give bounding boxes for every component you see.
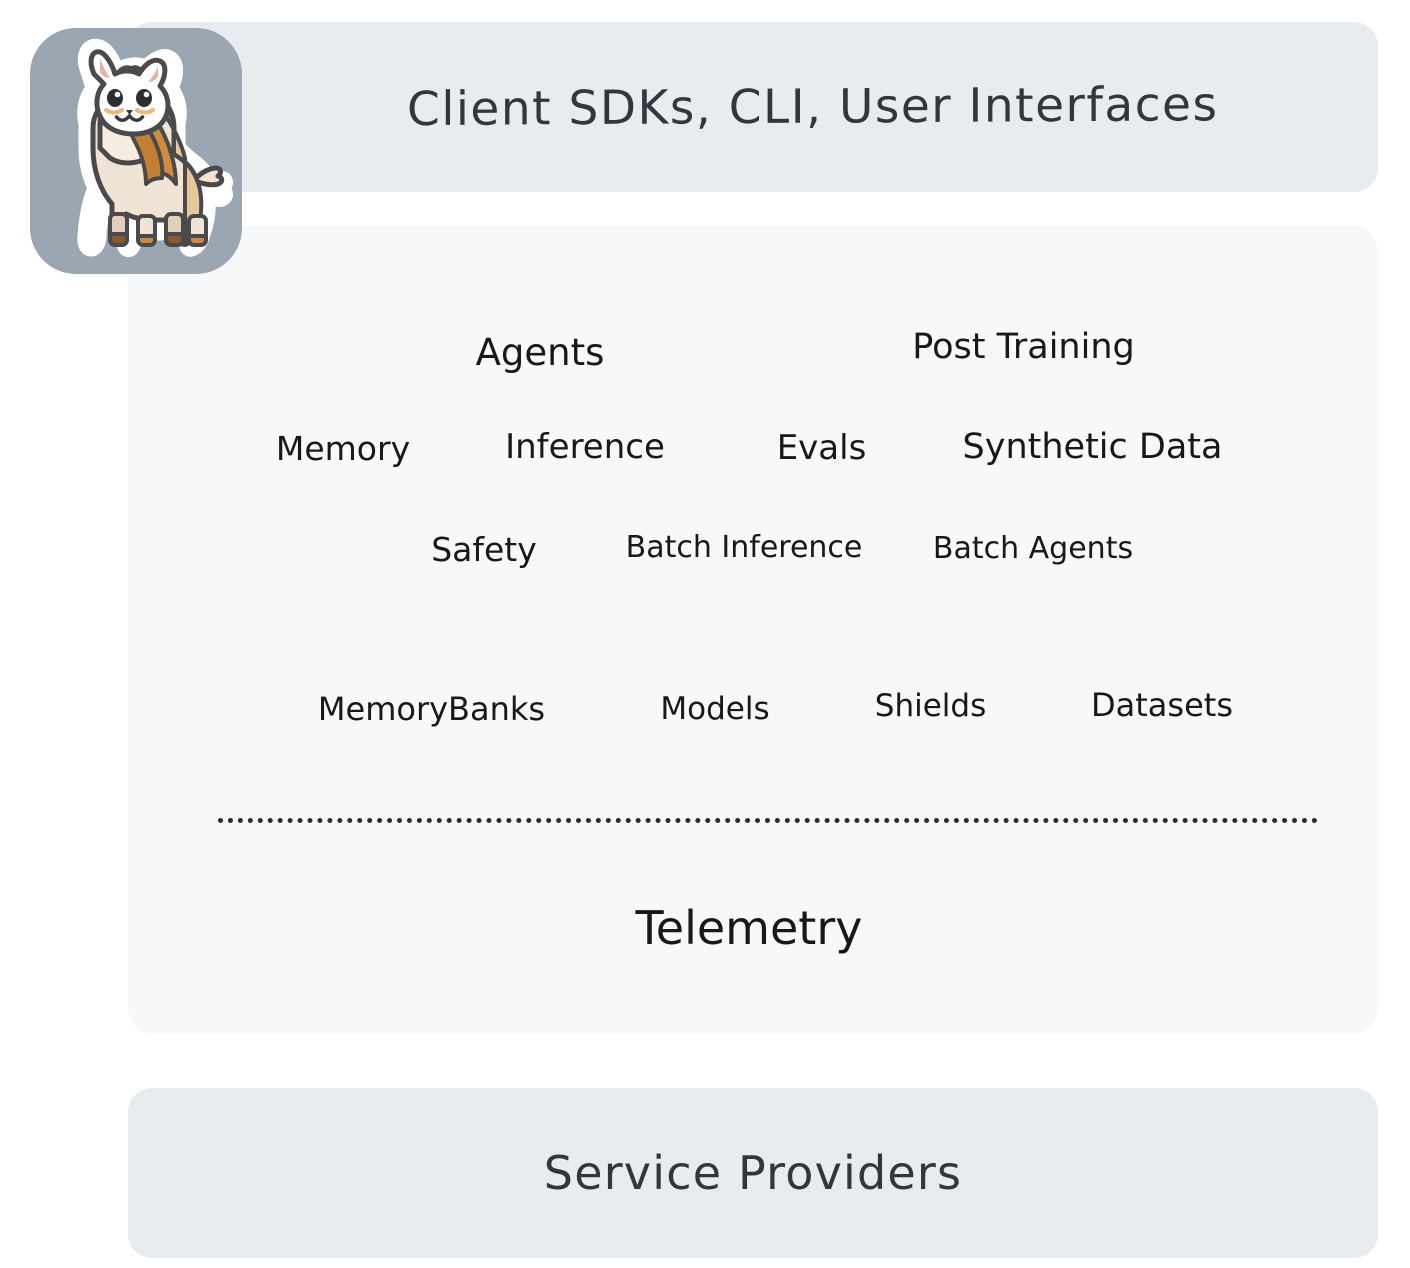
service-providers-bar: Service Providers xyxy=(128,1088,1378,1258)
api-box-agents-label: Agents xyxy=(476,334,605,371)
llama-logo-icon xyxy=(30,28,242,274)
architecture-diagram: Client SDKs, CLI, User Interfaces xyxy=(0,0,1410,1268)
api-box-inference-label: Inference xyxy=(505,430,665,464)
llama-logo-badge xyxy=(30,28,242,274)
api-box-batch-agents-label: Batch Agents xyxy=(933,534,1133,564)
client-layer-title: Client SDKs, CLI, User Interfaces xyxy=(287,77,1218,138)
resource-box-memorybanks-label: MemoryBanks xyxy=(318,693,545,725)
api-box-synthetic-data-label: Synthetic Data xyxy=(963,430,1223,465)
service-providers-title: Service Providers xyxy=(544,1146,962,1200)
resource-box-datasets-label: Datasets xyxy=(1091,689,1233,721)
api-box-memory-label: Memory xyxy=(276,432,410,465)
api-box-evals-label: Evals xyxy=(777,431,867,465)
api-box-post-training-label: Post Training xyxy=(912,330,1134,365)
api-box-safety-label: Safety xyxy=(431,533,537,566)
resource-box-models-label: Models xyxy=(660,694,769,725)
telemetry-box-label: Telemetry xyxy=(636,905,863,951)
api-box-batch-inference-label: Batch Inference xyxy=(626,533,863,563)
section-divider xyxy=(218,818,1318,823)
resource-box-shields-label: Shields xyxy=(875,691,986,722)
client-layer-bar: Client SDKs, CLI, User Interfaces xyxy=(128,22,1378,192)
